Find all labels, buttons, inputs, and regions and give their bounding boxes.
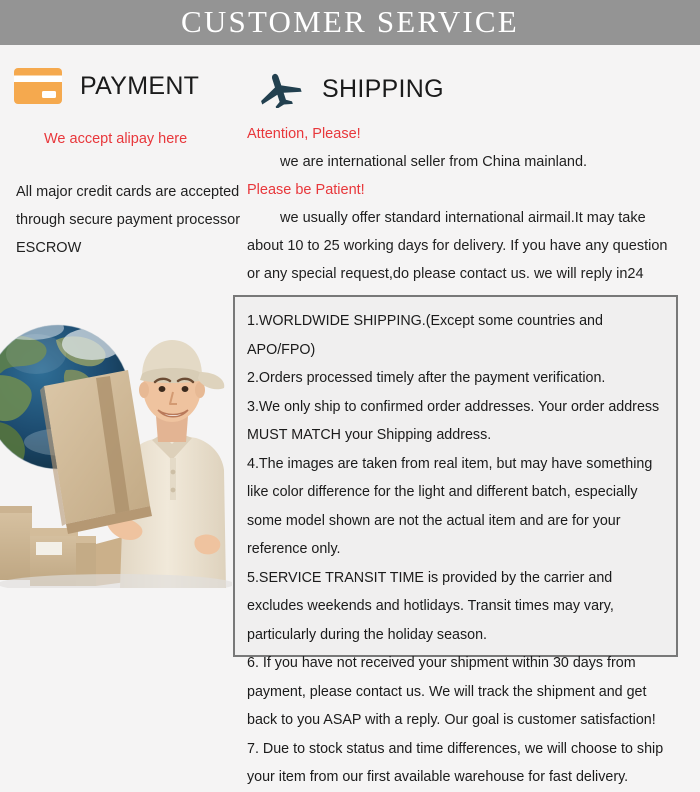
- list-item: 4.The images are taken from real item, b…: [247, 450, 664, 564]
- list-item: 7. Due to stock status and time differen…: [247, 735, 664, 792]
- list-item: 6. If you have not received your shipmen…: [247, 649, 664, 735]
- page-title: CUSTOMER SERVICE: [181, 6, 519, 39]
- shipping-heading-label: SHIPPING: [322, 75, 444, 104]
- shipping-body-text: Attention, Please! we are international …: [247, 120, 679, 316]
- payment-heading-label: PAYMENT: [80, 72, 199, 101]
- delivery-man-with-globe-and-boxes-photo: [0, 292, 232, 588]
- shipping-policy-list: 1.WORLDWIDE SHIPPING.(Except some countr…: [247, 307, 664, 792]
- shipping-alert-1: Attention, Please!: [247, 120, 679, 148]
- payment-body-text: All major credit cards are accepted thro…: [16, 178, 248, 262]
- list-item: 5.SERVICE TRANSIT TIME is provided by th…: [247, 564, 664, 650]
- shipping-alert-1-body: we are international seller from China m…: [247, 148, 679, 176]
- alipay-note: We accept alipay here: [44, 131, 187, 147]
- list-item: 1.WORLDWIDE SHIPPING.(Except some countr…: [247, 307, 664, 364]
- credit-card-icon: [14, 68, 62, 104]
- payment-section-heading: PAYMENT: [14, 68, 199, 104]
- airplane-icon: [258, 70, 302, 108]
- shipping-policy-box: 1.WORLDWIDE SHIPPING.(Except some countr…: [233, 295, 678, 657]
- list-item: 3.We only ship to confirmed order addres…: [247, 393, 664, 450]
- shipping-section-heading: SHIPPING: [258, 70, 444, 108]
- list-item: 2.Orders processed timely after the paym…: [247, 364, 664, 393]
- page-header-banner: CUSTOMER SERVICE: [0, 0, 700, 45]
- shipping-alert-2: Please be Patient!: [247, 176, 679, 204]
